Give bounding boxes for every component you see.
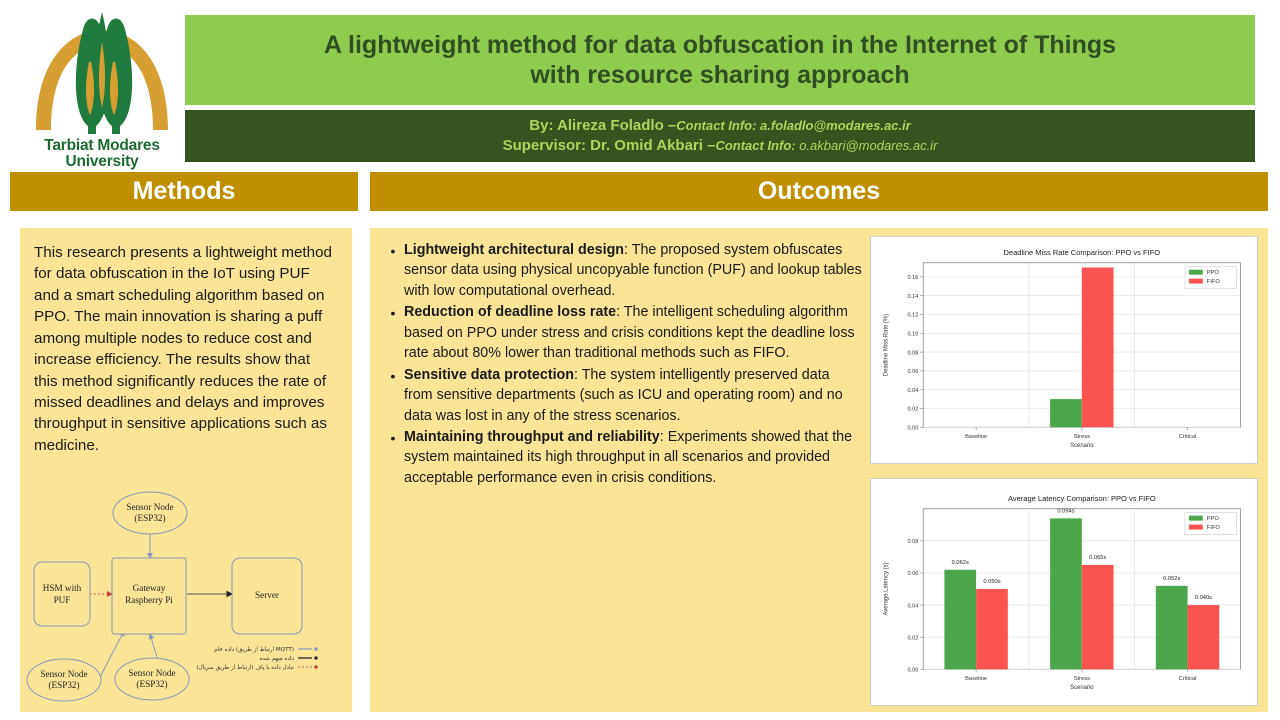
node-sensor-bl-line2: (ESP32) bbox=[48, 680, 79, 690]
y-tick-label: 0.04 bbox=[907, 388, 918, 394]
bullet-marker-icon: • bbox=[382, 427, 404, 488]
section-header-outcomes: Outcomes bbox=[370, 172, 1268, 211]
y-tick-label: 0.00 bbox=[907, 667, 918, 673]
author-line: By: Alireza Foladlo –Contact Info: a.fol… bbox=[529, 116, 910, 136]
y-tick-label: 0.02 bbox=[907, 407, 918, 413]
bar-ppo-stress bbox=[1050, 399, 1082, 427]
poster-root: Tarbiat Modares University A lightweight… bbox=[0, 0, 1280, 720]
x-tick-label: Stress bbox=[1074, 434, 1090, 440]
bar-data-label: 0.050s bbox=[983, 579, 1000, 585]
y-tick-label: 0.02 bbox=[907, 635, 918, 641]
y-tick-label: 0.14 bbox=[907, 294, 918, 300]
bullet-marker-icon: • bbox=[382, 240, 404, 301]
chart-deadline-miss-rate: Deadline Miss Rate Comparison: PPO vs FI… bbox=[870, 236, 1258, 464]
supervisor-contact: o.akbari@modares.ac.ir bbox=[796, 138, 938, 153]
x-tick-label: Baseline bbox=[965, 434, 987, 440]
methods-panel: This research presents a lightweight met… bbox=[20, 228, 352, 712]
bullet-marker-icon: • bbox=[382, 302, 404, 363]
bullet-title: Sensitive data protection bbox=[404, 367, 574, 383]
page-title: A lightweight method for data obfuscatio… bbox=[302, 30, 1138, 91]
bullet-text: Lightweight architectural design: The pr… bbox=[404, 240, 862, 301]
bullet-marker-icon: • bbox=[382, 365, 404, 426]
legend-swatch-fifo bbox=[1189, 525, 1203, 530]
bullet-title: Maintaining throughput and reliability bbox=[404, 429, 660, 445]
logo-line2: University bbox=[22, 154, 182, 170]
architecture-diagram-svg: Sensor Node (ESP32) HSM with PUF Gateway… bbox=[22, 486, 350, 706]
x-axis-label: Scenario bbox=[1070, 685, 1094, 691]
bar-fifo-critical bbox=[1188, 605, 1220, 669]
y-tick-label: 0.00 bbox=[907, 425, 918, 431]
node-hsm-line2: PUF bbox=[54, 595, 71, 605]
list-item: • Lightweight architectural design: The … bbox=[382, 240, 862, 301]
y-tick-label: 0.06 bbox=[907, 369, 918, 375]
node-sensor-bl-line1: Sensor Node bbox=[40, 669, 87, 679]
node-hsm-line1: HSM with bbox=[43, 583, 82, 593]
legend-label-fifo: FIFO bbox=[1207, 279, 1221, 285]
chart-average-latency-svg: Average Latency Comparison: PPO vs FIFO0… bbox=[871, 479, 1257, 705]
legend-label-ppo: PPO bbox=[1207, 270, 1220, 276]
bar-data-label: 0.040s bbox=[1195, 595, 1212, 601]
y-tick-label: 0.06 bbox=[907, 571, 918, 577]
y-tick-label: 0.08 bbox=[907, 539, 918, 545]
x-tick-label: Critical bbox=[1179, 434, 1197, 440]
logo-mark-icon bbox=[22, 8, 182, 140]
methods-paragraph: This research presents a lightweight met… bbox=[34, 242, 334, 456]
chart-title: Average Latency Comparison: PPO vs FIFO bbox=[1008, 494, 1156, 503]
bar-fifo-stress bbox=[1082, 565, 1114, 669]
legend-swatch-ppo bbox=[1189, 516, 1203, 521]
list-item: • Reduction of deadline loss rate: The i… bbox=[382, 302, 862, 363]
x-tick-label: Critical bbox=[1179, 676, 1197, 682]
node-sensor-top-line2: (ESP32) bbox=[134, 513, 165, 523]
list-item: • Sensitive data protection: The system … bbox=[382, 365, 862, 426]
bar-data-label: 0.094s bbox=[1057, 508, 1074, 514]
y-axis-label: Average Latency (s) bbox=[884, 562, 890, 615]
y-tick-label: 0.12 bbox=[907, 313, 918, 319]
y-tick-label: 0.10 bbox=[907, 331, 918, 337]
y-tick-label: 0.16 bbox=[907, 275, 918, 281]
diagram-legend: داده خام (ارتباط از طریق MQTT) داده مبهم… bbox=[196, 647, 317, 671]
university-logo: Tarbiat Modares University bbox=[22, 8, 182, 168]
logo-line1: Tarbiat Modares bbox=[44, 137, 160, 154]
legend-label-fifo: FIFO bbox=[1207, 525, 1221, 531]
chart-title: Deadline Miss Rate Comparison: PPO vs FI… bbox=[1004, 248, 1161, 257]
section-header-methods: Methods bbox=[10, 172, 358, 211]
outcomes-header-label: Outcomes bbox=[758, 177, 880, 206]
node-sensor-bm-line2: (ESP32) bbox=[136, 679, 167, 689]
x-tick-label: Baseline bbox=[965, 676, 987, 682]
bullet-text: Maintaining throughput and reliability: … bbox=[404, 427, 862, 488]
bar-ppo-baseline bbox=[944, 570, 976, 670]
legend-item-1: داده مبهم شده bbox=[259, 656, 294, 662]
supervisor-name: Supervisor: Dr. Omid Akbari – bbox=[503, 137, 716, 154]
node-gateway-line2: Raspberry Pi bbox=[125, 595, 173, 605]
bullet-text: Sensitive data protection: The system in… bbox=[404, 365, 862, 426]
list-item: • Maintaining throughput and reliability… bbox=[382, 427, 862, 488]
legend-swatch-ppo bbox=[1189, 270, 1203, 275]
poster-title-bar: A lightweight method for data obfuscatio… bbox=[185, 15, 1255, 105]
legend-label-ppo: PPO bbox=[1207, 516, 1220, 522]
x-axis-label: Scenario bbox=[1070, 443, 1094, 449]
outcomes-panel: • Lightweight architectural design: The … bbox=[370, 228, 1268, 712]
bullet-text: Reduction of deadline loss rate: The int… bbox=[404, 302, 862, 363]
methods-header-label: Methods bbox=[133, 177, 236, 206]
legend-item-2: تبادل داده با پاف (ارتباط از طریق سریال) bbox=[196, 665, 294, 671]
bullet-title: Lightweight architectural design bbox=[404, 242, 624, 258]
bar-fifo-stress bbox=[1082, 267, 1114, 427]
chart-average-latency: Average Latency Comparison: PPO vs FIFO0… bbox=[870, 478, 1258, 706]
bar-data-label: 0.052s bbox=[1163, 576, 1180, 582]
chart-deadline-miss-rate-svg: Deadline Miss Rate Comparison: PPO vs FI… bbox=[871, 237, 1257, 463]
logo-wordmark: Tarbiat Modares University bbox=[22, 138, 182, 170]
node-gateway-line1: Gateway bbox=[133, 583, 166, 593]
supervisor-line: Supervisor: Dr. Omid Akbari –Contact Inf… bbox=[503, 136, 938, 156]
bar-ppo-stress bbox=[1050, 518, 1082, 669]
y-tick-label: 0.08 bbox=[907, 350, 918, 356]
x-tick-label: Stress bbox=[1074, 676, 1090, 682]
outcomes-bullet-list: • Lightweight architectural design: The … bbox=[382, 240, 862, 489]
author-name: By: Alireza Foladlo – bbox=[529, 117, 676, 134]
node-sensor-top-line1: Sensor Node bbox=[126, 502, 173, 512]
node-server: Server bbox=[255, 590, 279, 600]
y-tick-label: 0.04 bbox=[907, 603, 918, 609]
y-axis-label: Deadline Miss Rate (%) bbox=[884, 314, 890, 376]
title-line-2: with resource sharing approach bbox=[530, 61, 909, 89]
legend-item-0: داده خام (ارتباط از طریق MQTT) bbox=[214, 647, 294, 653]
authors-bar: By: Alireza Foladlo –Contact Info: a.fol… bbox=[185, 110, 1255, 162]
supervisor-contact-label: Contact Info: bbox=[715, 138, 795, 153]
title-line-1: A lightweight method for data obfuscatio… bbox=[324, 31, 1116, 59]
legend-swatch-fifo bbox=[1189, 279, 1203, 284]
bullet-title: Reduction of deadline loss rate bbox=[404, 304, 616, 320]
architecture-diagram: Sensor Node (ESP32) HSM with PUF Gateway… bbox=[22, 486, 350, 706]
bar-data-label: 0.065s bbox=[1089, 555, 1106, 561]
bar-fifo-baseline bbox=[976, 589, 1008, 669]
node-sensor-bm-line1: Sensor Node bbox=[128, 668, 175, 678]
bar-ppo-critical bbox=[1156, 586, 1188, 670]
bar-data-label: 0.062s bbox=[952, 560, 969, 566]
author-contact: Contact Info: a.foladlo@modares.ac.ir bbox=[676, 118, 910, 133]
